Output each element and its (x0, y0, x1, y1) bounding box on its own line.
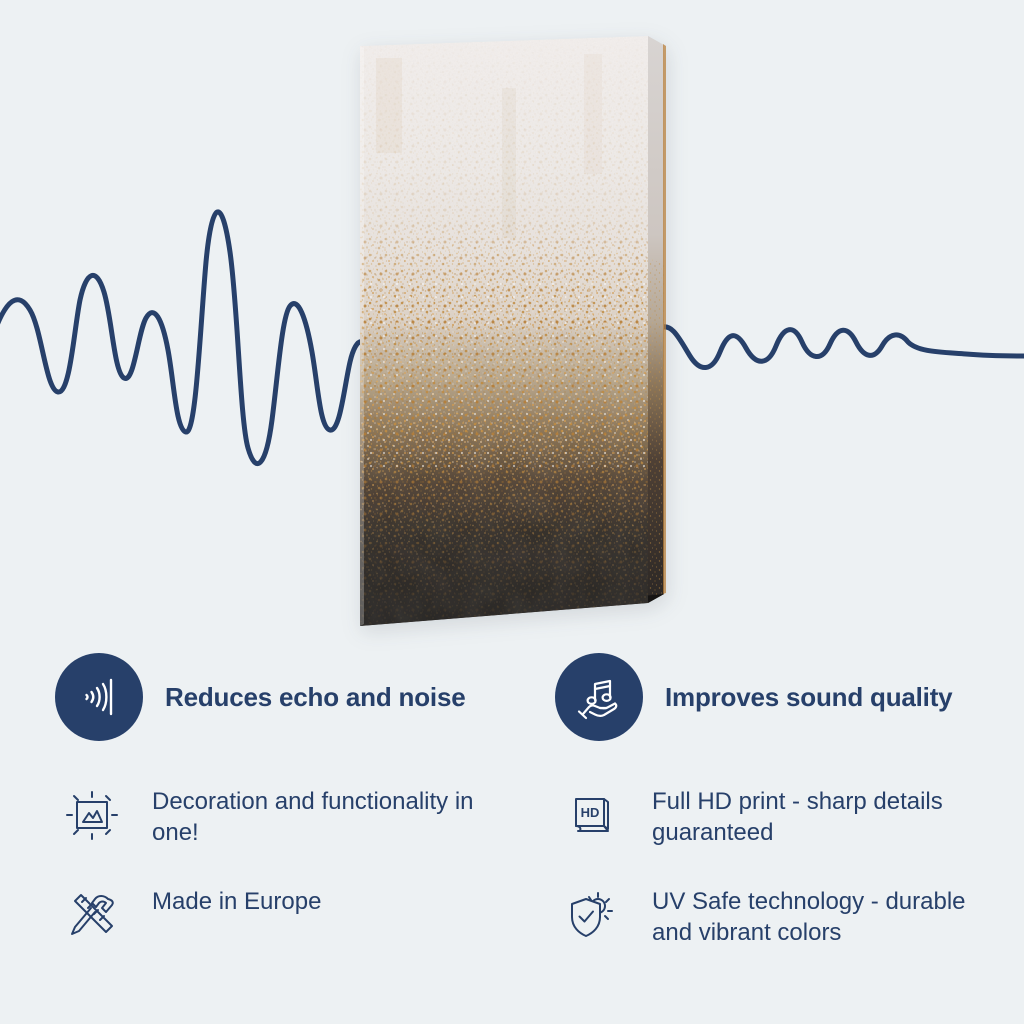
feature-row-hd-print: HD Full HD print - sharp details guarant… (560, 780, 1024, 880)
feature-row-decoration: Decoration and functionality in one! (60, 780, 530, 880)
feature-label: Decoration and functionality in one! (152, 780, 482, 848)
badge-reduces-echo: Reduces echo and noise (55, 653, 465, 741)
feature-row-made-in-europe: Made in Europe (60, 880, 530, 980)
sound-waves-icon (55, 653, 143, 741)
feature-row-uv-safe: UV Safe technology - durable and vibrant… (560, 880, 1024, 980)
product-canvas (352, 28, 672, 648)
badge-label: Reduces echo and noise (165, 682, 465, 713)
feature-column-left: Decoration and functionality in one! (60, 780, 530, 980)
badge-label: Improves sound quality (665, 682, 952, 713)
hd-page-icon: HD (560, 784, 624, 848)
hd-icon-text: HD (581, 805, 600, 820)
feature-label: Full HD print - sharp details guaranteed (652, 780, 982, 848)
ruler-and-hammer-icon (60, 884, 124, 948)
feature-label: UV Safe technology - durable and vibrant… (652, 880, 982, 948)
canvas-front-face (352, 28, 672, 648)
feature-badges: Reduces echo and noise (0, 645, 1024, 755)
badge-improves-sound: Improves sound quality (555, 653, 952, 741)
shining-picture-frame-icon (60, 784, 124, 848)
feature-label: Made in Europe (152, 880, 321, 917)
music-note-in-hand-icon (555, 653, 643, 741)
uv-shield-check-icon (560, 884, 624, 948)
infographic-stage: Reduces echo and noise (0, 0, 1024, 1024)
canvas-artwork-image (352, 28, 672, 648)
feature-column-right: HD Full HD print - sharp details guarant… (560, 780, 1024, 980)
